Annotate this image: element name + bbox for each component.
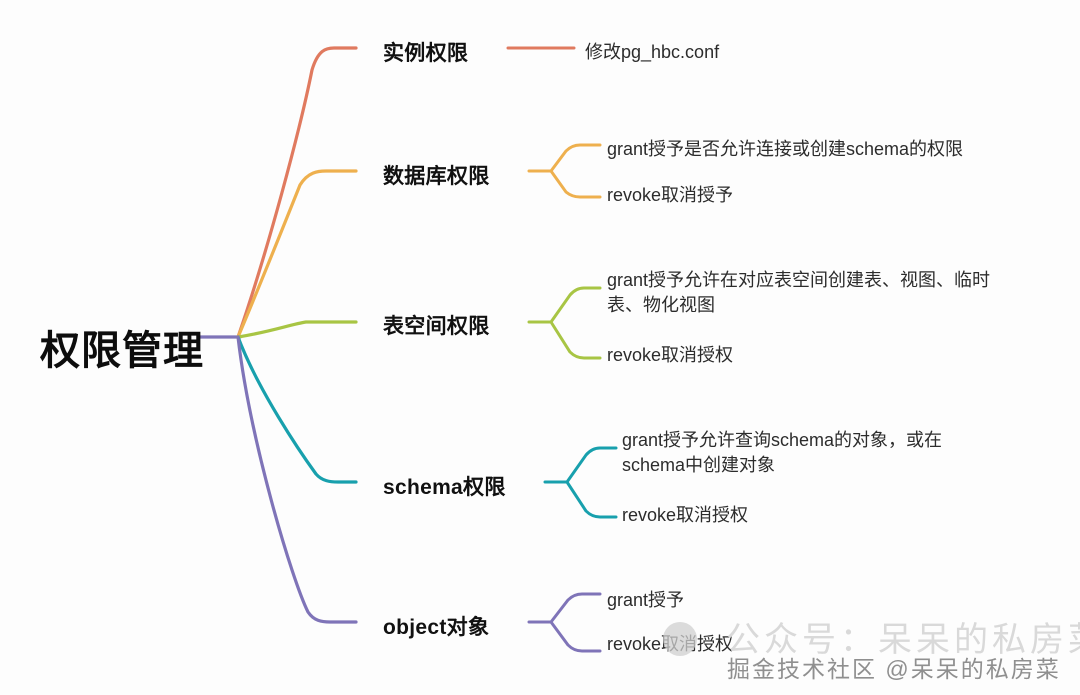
root-node-label[interactable]: 权限管理 <box>40 318 204 376</box>
watermark-background: 公众号：呆呆的私房菜 <box>726 612 1080 661</box>
branch-label-schema[interactable]: schema权限 <box>383 471 506 501</box>
leaf-line-schema-1 <box>567 448 616 482</box>
leaf-label-schema-grant[interactable]: grant授予允许查询schema的对象，或在 schema中创建对象 <box>622 428 942 478</box>
leaf-label-tablespace-revoke[interactable]: revoke取消授权 <box>607 343 733 368</box>
leaf-label-database-revoke[interactable]: revoke取消授予 <box>607 183 733 208</box>
branch-label-object[interactable]: object对象 <box>383 611 489 641</box>
watermark-foreground: 掘金技术社区 @呆呆的私房菜 <box>727 650 1061 684</box>
leaf-line-tablespace-2 <box>551 322 600 358</box>
branch-line-schema <box>238 337 356 482</box>
branch-line-database <box>238 171 356 337</box>
leaf-line-object-2 <box>551 622 600 651</box>
leaf-line-tablespace-1 <box>551 288 600 322</box>
leaf-label-database-grant[interactable]: grant授予是否允许连接或创建schema的权限 <box>607 137 963 162</box>
leaf-label-tablespace-grant[interactable]: grant授予允许在对应表空间创建表、视图、临时 表、物化视图 <box>607 268 990 318</box>
branch-label-tablespace[interactable]: 表空间权限 <box>383 310 490 340</box>
leaf-label-schema-revoke[interactable]: revoke取消授权 <box>622 503 748 528</box>
mindmap-canvas: 权限管理 实例权限 修改pg_hbc.conf 数据库权限 grant授予是否允… <box>0 0 1080 695</box>
leaf-line-object-1 <box>551 594 600 622</box>
watermark-dot <box>663 622 697 656</box>
branch-label-database[interactable]: 数据库权限 <box>383 160 490 190</box>
leaf-line-schema-2 <box>567 482 616 517</box>
branch-line-instance <box>238 48 356 337</box>
branch-line-tablespace <box>238 322 356 337</box>
branch-label-instance[interactable]: 实例权限 <box>383 37 468 67</box>
leaf-line-database-1 <box>551 145 600 171</box>
leaf-label-object-grant[interactable]: grant授予 <box>607 588 684 613</box>
leaf-line-database-2 <box>551 171 600 197</box>
leaf-label-instance-1[interactable]: 修改pg_hbc.conf <box>585 40 719 65</box>
branch-line-object <box>238 337 356 622</box>
